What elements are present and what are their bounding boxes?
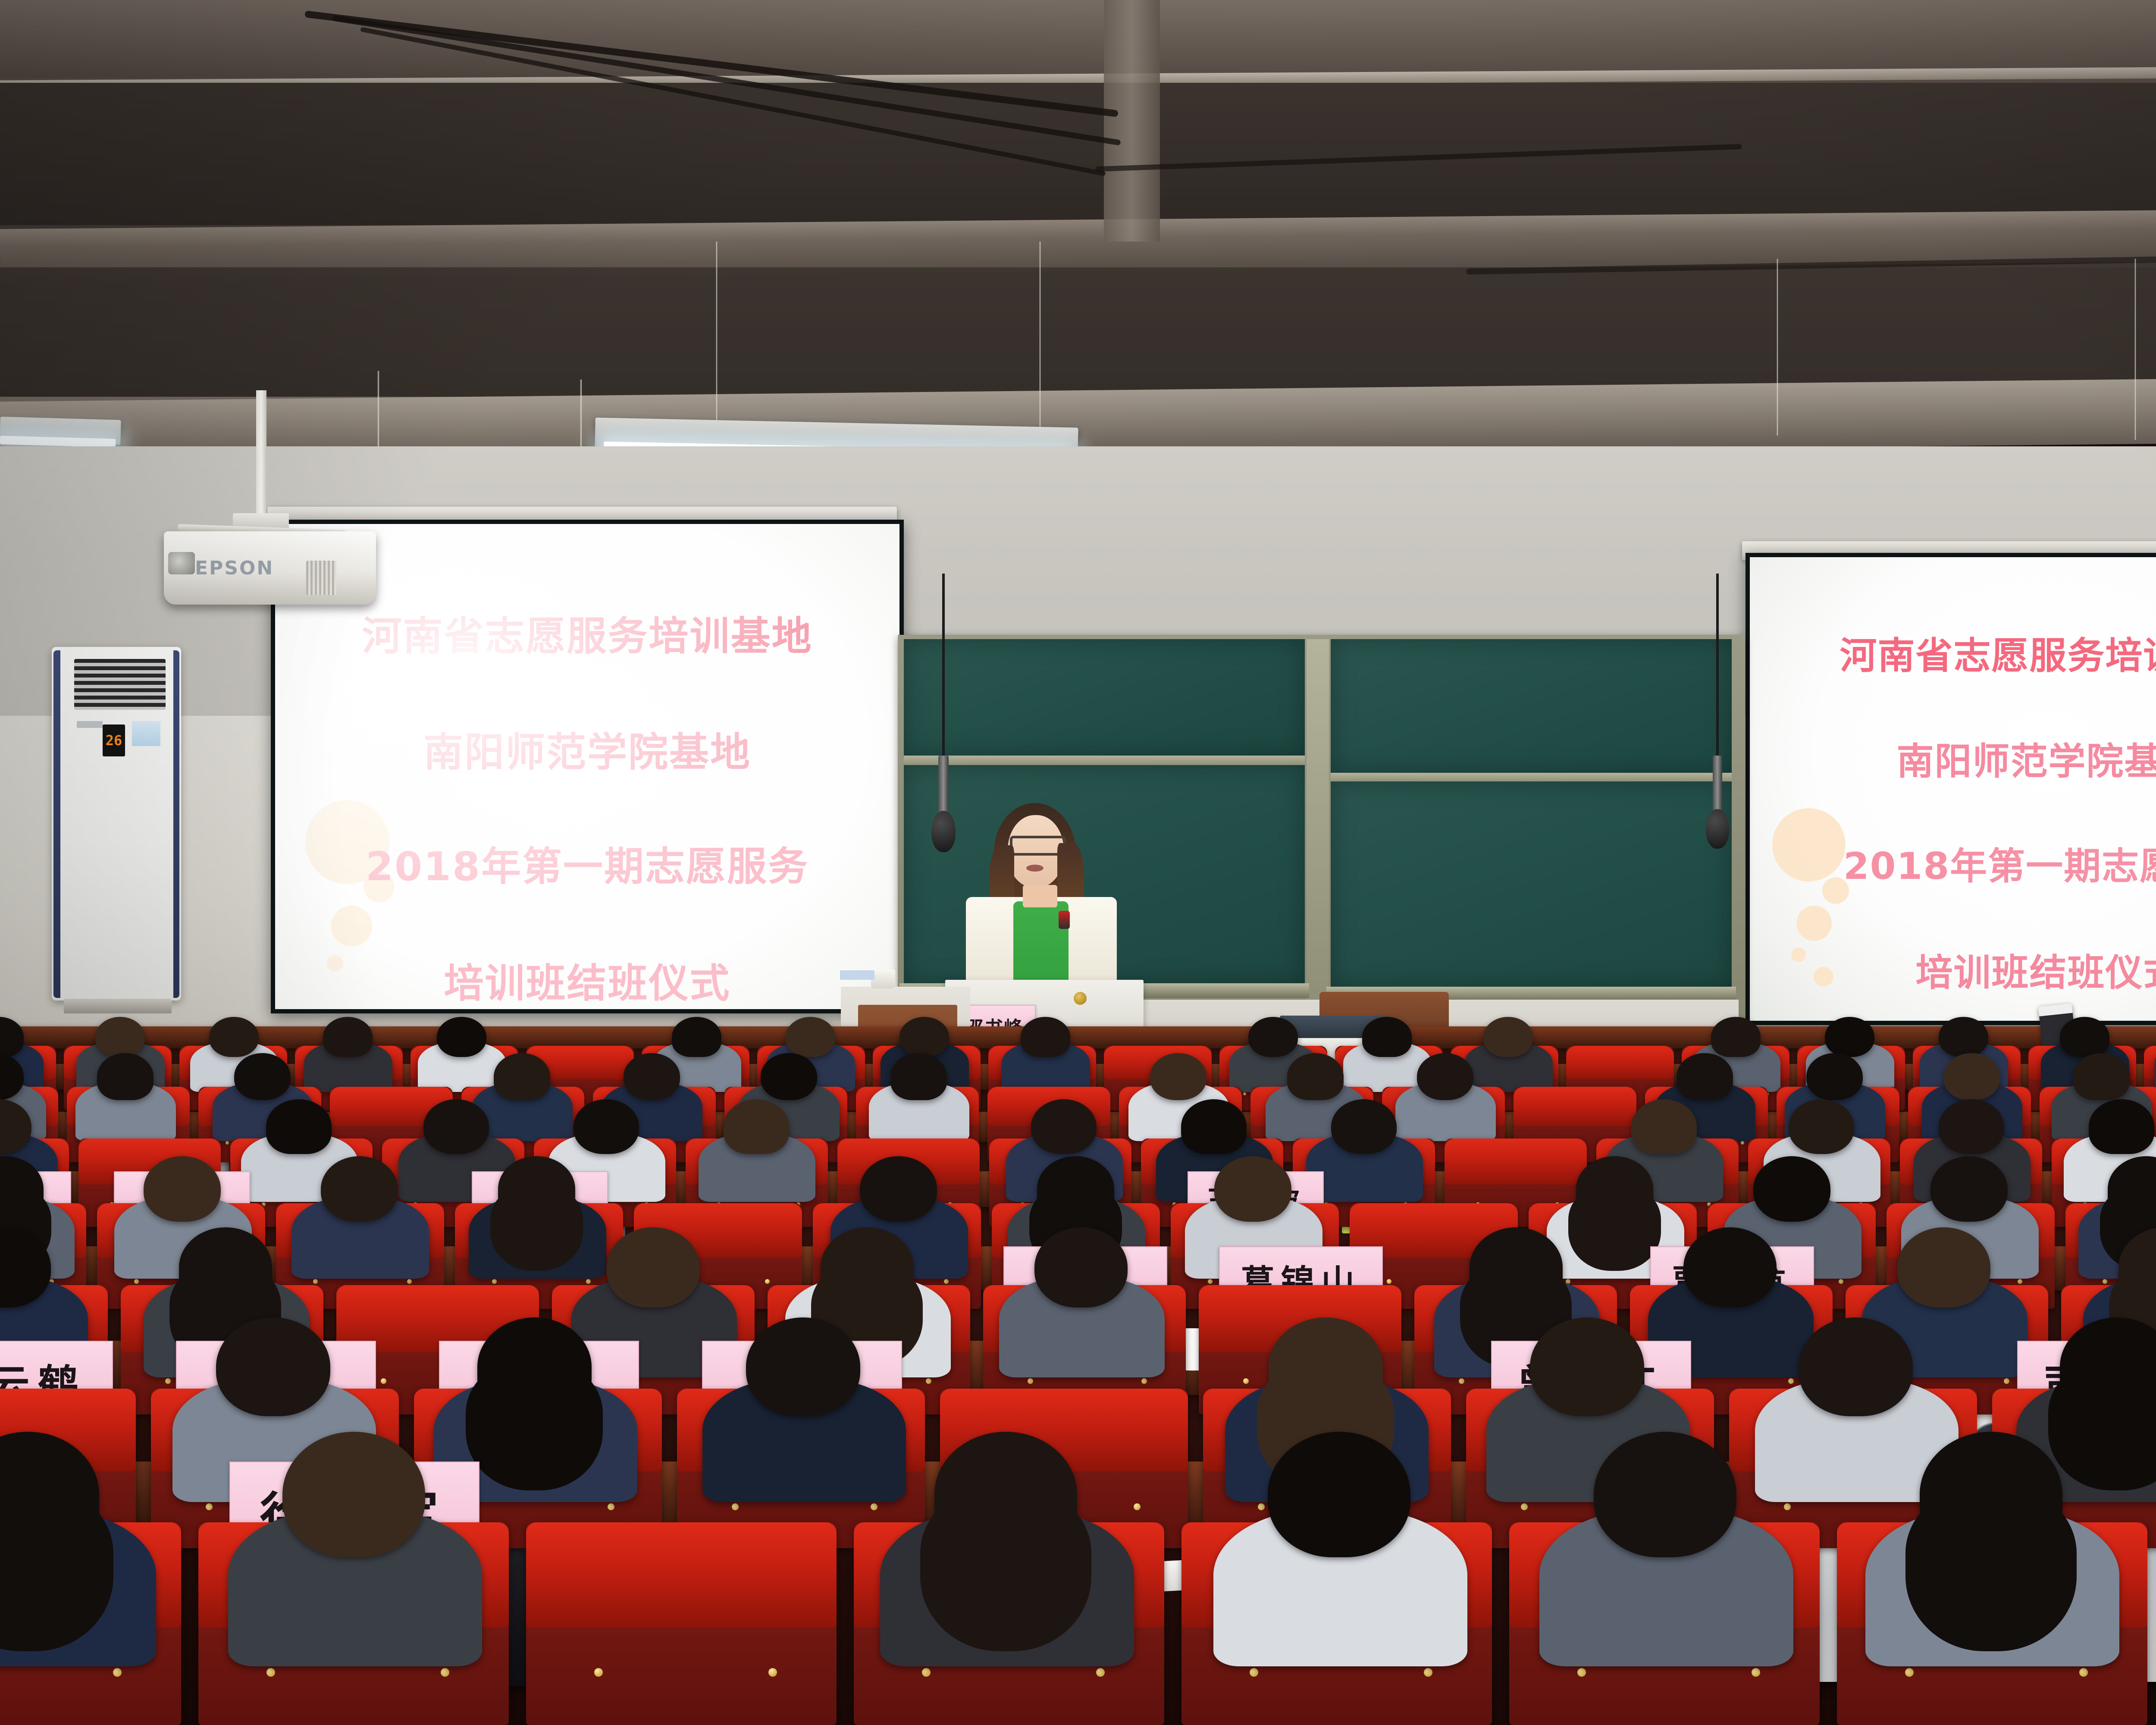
audience-member-head bbox=[724, 1099, 789, 1154]
seat-brass-stud bbox=[768, 1668, 777, 1677]
ceiling-recess-1 bbox=[0, 83, 2156, 225]
seat-brass-stud bbox=[1141, 1378, 1147, 1384]
blackboard-panel-top-left bbox=[904, 639, 1305, 756]
audience-member-head bbox=[2060, 1017, 2109, 1057]
seat-brass-stud bbox=[1521, 1503, 1528, 1510]
seat-brass-stud bbox=[922, 1668, 931, 1677]
audience-member-head bbox=[266, 1099, 332, 1154]
audience-member-head bbox=[1799, 1317, 1913, 1416]
audience-member-head bbox=[1943, 1053, 2000, 1100]
blackboard-panel-top-right bbox=[1331, 639, 1732, 774]
audience-member-head bbox=[1897, 1227, 1990, 1308]
audience-member-head bbox=[97, 1053, 154, 1100]
audience-member-head bbox=[1939, 1017, 1988, 1057]
seat-brass-stud bbox=[765, 1279, 770, 1284]
projector-left-brand: EPSON bbox=[195, 557, 274, 579]
audience-member-head bbox=[1711, 1017, 1761, 1057]
audience-member-head bbox=[1417, 1053, 1473, 1100]
seat-brass-stud bbox=[1741, 1141, 1744, 1145]
air-conditioner-side-trim bbox=[53, 650, 60, 998]
speaker-mouth bbox=[1026, 865, 1044, 872]
seat-brass-stud bbox=[732, 1503, 739, 1510]
seat-red-cushion bbox=[2144, 1046, 2156, 1079]
seat-red-cushion bbox=[526, 1522, 837, 1628]
audience-member-head bbox=[1021, 1017, 1070, 1057]
seat-brass-stud bbox=[1577, 1668, 1586, 1677]
audience-member-head bbox=[573, 1099, 639, 1154]
hanging-mic-cable-2 bbox=[1716, 574, 1719, 759]
seat-brass-stud bbox=[113, 1668, 122, 1677]
seat-brass-stud bbox=[407, 1279, 412, 1284]
speaker-lapel-mic bbox=[1059, 911, 1070, 929]
audience-member-head bbox=[282, 1432, 425, 1557]
light-hanger-wire-1 bbox=[716, 241, 718, 431]
seat-brass-stud bbox=[441, 1668, 449, 1677]
podium-emblem bbox=[1074, 992, 1087, 1005]
seat-brass-stud bbox=[1784, 1503, 1791, 1510]
projector-left-vent bbox=[306, 561, 336, 595]
seat-brass-stud bbox=[1208, 1279, 1213, 1284]
ceiling-cross-beam bbox=[1104, 0, 1160, 241]
audience-member-head bbox=[1930, 1156, 2008, 1222]
seat-brass-stud bbox=[586, 1279, 591, 1284]
blackboard-rail-vertical bbox=[1307, 639, 1329, 1023]
audience-member-head bbox=[1825, 1017, 1874, 1057]
light-hanger-wire-4 bbox=[2134, 259, 2136, 440]
seat-red-cushion bbox=[1445, 1138, 1587, 1185]
lecture-hall-photo: 消水管道 河南省志愿服务培训基地 南阳师范学院基地 2018年第一期志愿服务 培… bbox=[0, 0, 2156, 1725]
audience-member-long-hair bbox=[1568, 1186, 1661, 1271]
audience-member-long-hair bbox=[920, 1488, 1091, 1651]
air-conditioner-display[interactable]: 26 bbox=[103, 724, 125, 756]
seat-brass-stud bbox=[1028, 1378, 1033, 1384]
seat-brass-stud bbox=[2004, 1378, 2009, 1384]
audience-member-head bbox=[234, 1053, 291, 1100]
audience-member-head bbox=[144, 1156, 221, 1222]
audience-member-long-hair bbox=[1905, 1488, 2077, 1651]
seat-brass-stud bbox=[2079, 1668, 2088, 1677]
audience-member-head bbox=[321, 1156, 398, 1222]
air-conditioner-stand bbox=[64, 999, 172, 1013]
hanging-mic-body-1 bbox=[938, 756, 949, 816]
seat-brass-stud bbox=[134, 1279, 139, 1284]
seat-red-cushion bbox=[1566, 1046, 1674, 1079]
audience-member-head bbox=[1150, 1053, 1206, 1100]
seat-brass-stud bbox=[1096, 1668, 1105, 1677]
audience-member-head bbox=[1677, 1053, 1733, 1100]
seat-brass-stud bbox=[226, 1141, 229, 1145]
audience-member-head bbox=[1287, 1053, 1344, 1100]
audience-member-long-hair bbox=[2048, 1362, 2156, 1490]
projector-left: EPSON bbox=[164, 531, 376, 605]
seat-brass-stud bbox=[1905, 1668, 1914, 1677]
audience-member-head bbox=[1331, 1099, 1397, 1154]
audience-member-long-hair bbox=[490, 1186, 583, 1271]
seat-brass-stud bbox=[266, 1668, 275, 1677]
ceiling-recess-2 bbox=[0, 267, 2156, 397]
seat-brass-stud bbox=[926, 1378, 931, 1384]
audience-member-head bbox=[899, 1017, 949, 1057]
audience-member-head bbox=[2089, 1099, 2154, 1154]
audience-member-head bbox=[746, 1317, 860, 1416]
blackboard-rail-horizontal bbox=[904, 756, 1305, 766]
seat-brass-stud bbox=[1459, 1378, 1464, 1384]
audience-member-head bbox=[494, 1053, 550, 1100]
audience-member-head bbox=[1631, 1099, 1697, 1154]
slide-line-3-right: 2018年第一期志愿服务 bbox=[1750, 785, 2156, 890]
audience-member-head bbox=[95, 1017, 145, 1057]
hanging-mic-head-2 bbox=[1706, 809, 1729, 849]
slide-line-4-right: 培训班结班仪式 bbox=[1750, 890, 2156, 996]
audience-member-head bbox=[860, 1156, 937, 1222]
podium-desk-paper bbox=[840, 970, 874, 980]
seat-brass-stud bbox=[1839, 1279, 1843, 1284]
seat-brass-stud bbox=[1258, 1503, 1265, 1510]
audience-member-head bbox=[1939, 1099, 2004, 1154]
seat-brass-stud bbox=[1243, 1092, 1246, 1095]
audience-member-head bbox=[1031, 1099, 1097, 1154]
ceiling-slab-upper bbox=[0, 0, 2156, 78]
audience-member-head bbox=[607, 1227, 700, 1308]
air-conditioner-temp: 26 bbox=[106, 732, 122, 749]
audience-member-head bbox=[423, 1099, 489, 1154]
slide-line-2-right: 南阳师范学院基地 bbox=[1750, 679, 2156, 785]
audience-member-head bbox=[1806, 1053, 1863, 1100]
light-hanger-wire-3 bbox=[1777, 259, 1778, 436]
hanging-mic-cable-1 bbox=[942, 574, 945, 759]
audience-member-head bbox=[672, 1017, 721, 1057]
seat-brass-stud bbox=[381, 1378, 386, 1384]
audience-member-head bbox=[624, 1053, 680, 1100]
audience-member-head bbox=[437, 1017, 486, 1057]
projection-screen-right: 河南省志愿服务培训基地 南阳师范学院基地 2018年第一期志愿服务 培训班结班仪… bbox=[1745, 553, 2156, 1025]
blackboard-panel-main-right bbox=[1331, 781, 1732, 988]
podium-desk-cup bbox=[871, 969, 895, 988]
audience-member-head bbox=[1483, 1017, 1533, 1057]
blackboard-rail-horizontal-right bbox=[1331, 773, 1732, 782]
audience-member-head bbox=[1248, 1017, 1298, 1057]
audience-member-head bbox=[1530, 1317, 1644, 1416]
air-conditioner-side-trim-right bbox=[173, 650, 179, 998]
seat-brass-stud bbox=[608, 1503, 614, 1510]
audience-member-head bbox=[1753, 1156, 1830, 1222]
audience-member-head bbox=[2073, 1053, 2130, 1100]
seat-brass-stud bbox=[1250, 1668, 1258, 1677]
audience-member-head bbox=[1034, 1227, 1128, 1308]
audience-member-head bbox=[1214, 1156, 1291, 1222]
light-hanger-wire-2 bbox=[1039, 241, 1041, 431]
audience-member-head bbox=[1789, 1099, 1854, 1154]
audience-member-head bbox=[216, 1317, 330, 1416]
seat-brass-stud bbox=[594, 1668, 603, 1677]
screen-right-surface: 河南省志愿服务培训基地 南阳师范学院基地 2018年第一期志愿服务 培训班结班仪… bbox=[1750, 557, 2156, 1021]
seat-brass-stud bbox=[2018, 1279, 2022, 1284]
slide-line-1-right: 河南省志愿服务培训基地 bbox=[1750, 609, 2156, 679]
audience-member-head bbox=[1181, 1099, 1247, 1154]
seat-red-cushion bbox=[1514, 1087, 1636, 1126]
hanging-mic-body-2 bbox=[1713, 756, 1722, 814]
speaker-neck bbox=[1023, 885, 1057, 907]
seat-brass-stud bbox=[1788, 1378, 1794, 1384]
air-conditioner-vent bbox=[74, 659, 166, 710]
air-conditioner-energy-label bbox=[132, 721, 160, 746]
audience-member-head bbox=[1268, 1432, 1410, 1557]
audience-member-head bbox=[1594, 1432, 1736, 1557]
audience-member-head bbox=[323, 1017, 373, 1057]
seat-brass-stud bbox=[1387, 1279, 1391, 1284]
seat-brass-stud bbox=[165, 1378, 171, 1384]
seat-brass-stud bbox=[2103, 1279, 2107, 1284]
seat-brass-stud bbox=[492, 1279, 497, 1284]
seat-brass-stud bbox=[1424, 1668, 1432, 1677]
seat-brass-stud bbox=[313, 1279, 318, 1284]
audience-member-head bbox=[1362, 1017, 1412, 1057]
seat-brass-stud bbox=[1752, 1668, 1760, 1677]
seat-brass-stud bbox=[944, 1279, 949, 1284]
audience-member-head bbox=[761, 1053, 817, 1100]
seat-brass-stud bbox=[206, 1503, 213, 1510]
hanging-mic-head-1 bbox=[931, 811, 956, 852]
seat-brass-stud bbox=[1134, 1503, 1141, 1510]
seat-brass-stud bbox=[871, 1503, 877, 1510]
auditorium-seat[interactable] bbox=[526, 1522, 837, 1725]
seat-brass-stud bbox=[1243, 1378, 1249, 1384]
audience-member-long-hair bbox=[466, 1362, 603, 1490]
projector-left-lens bbox=[168, 552, 195, 574]
projector-left-pole bbox=[256, 390, 266, 520]
audience-member-head bbox=[209, 1017, 259, 1057]
air-conditioner-brand bbox=[77, 721, 103, 728]
audience-member-head bbox=[1683, 1227, 1777, 1308]
audience-member-head bbox=[890, 1053, 947, 1100]
audience-member-head bbox=[786, 1017, 835, 1057]
